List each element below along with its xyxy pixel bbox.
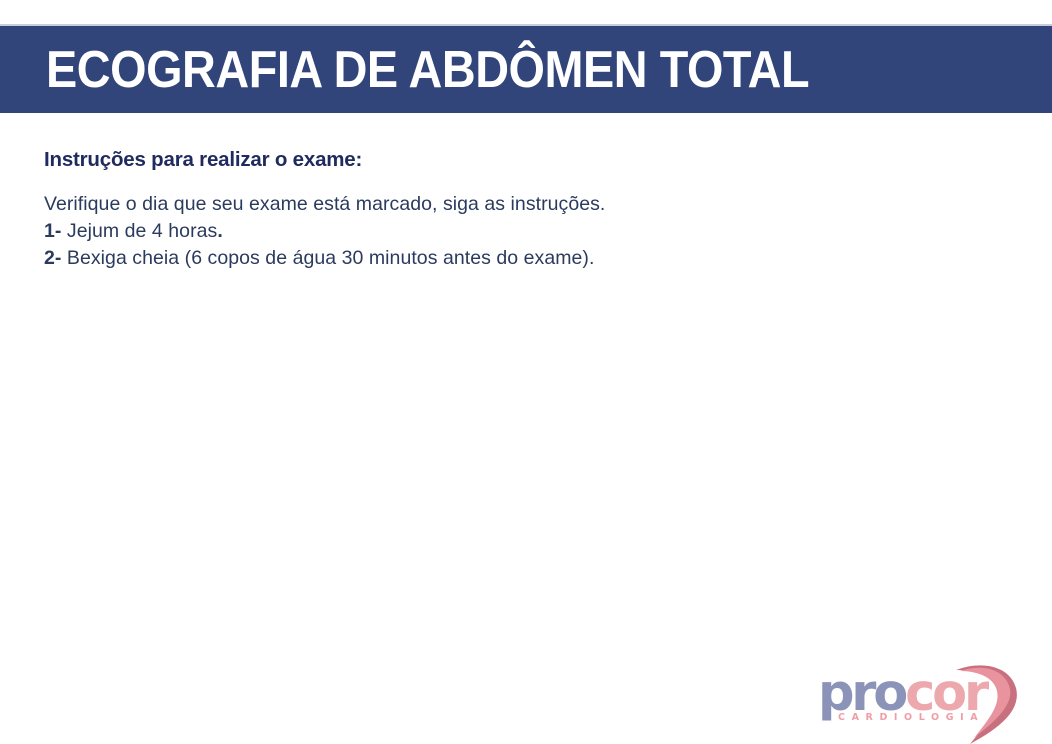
procor-logo: procor CARDIOLOGIA <box>818 662 1033 742</box>
instruction-marker: 2- <box>44 247 61 269</box>
header-band: ECOGRAFIA DE ABDÔMEN TOTAL <box>0 26 1052 113</box>
instructions-list: Verifique o dia que seu exame está marca… <box>42 191 1002 272</box>
instruction-text: Verifique o dia que seu exame está marca… <box>44 193 605 215</box>
instruction-text: Bexiga cheia (6 copos de água 30 minutos… <box>61 247 594 269</box>
instruction-marker: 1- <box>44 220 61 242</box>
page-title: ECOGRAFIA DE ABDÔMEN TOTAL <box>46 44 809 96</box>
instruction-line: 1- Jejum de 4 horas. <box>44 218 1002 245</box>
logo-tagline: CARDIOLOGIA <box>838 712 984 723</box>
instruction-line: 2- Bexiga cheia (6 copos de água 30 minu… <box>44 245 1002 272</box>
instruction-text: Jejum de 4 horas <box>61 220 217 242</box>
document-page: ECOGRAFIA DE ABDÔMEN TOTAL Instruções pa… <box>0 0 1052 744</box>
instruction-tail: . <box>217 220 222 242</box>
instructions-section: Instruções para realizar o exame: Verifi… <box>42 148 1002 272</box>
instruction-line: Verifique o dia que seu exame está marca… <box>44 191 1002 218</box>
instructions-heading: Instruções para realizar o exame: <box>44 148 1002 173</box>
